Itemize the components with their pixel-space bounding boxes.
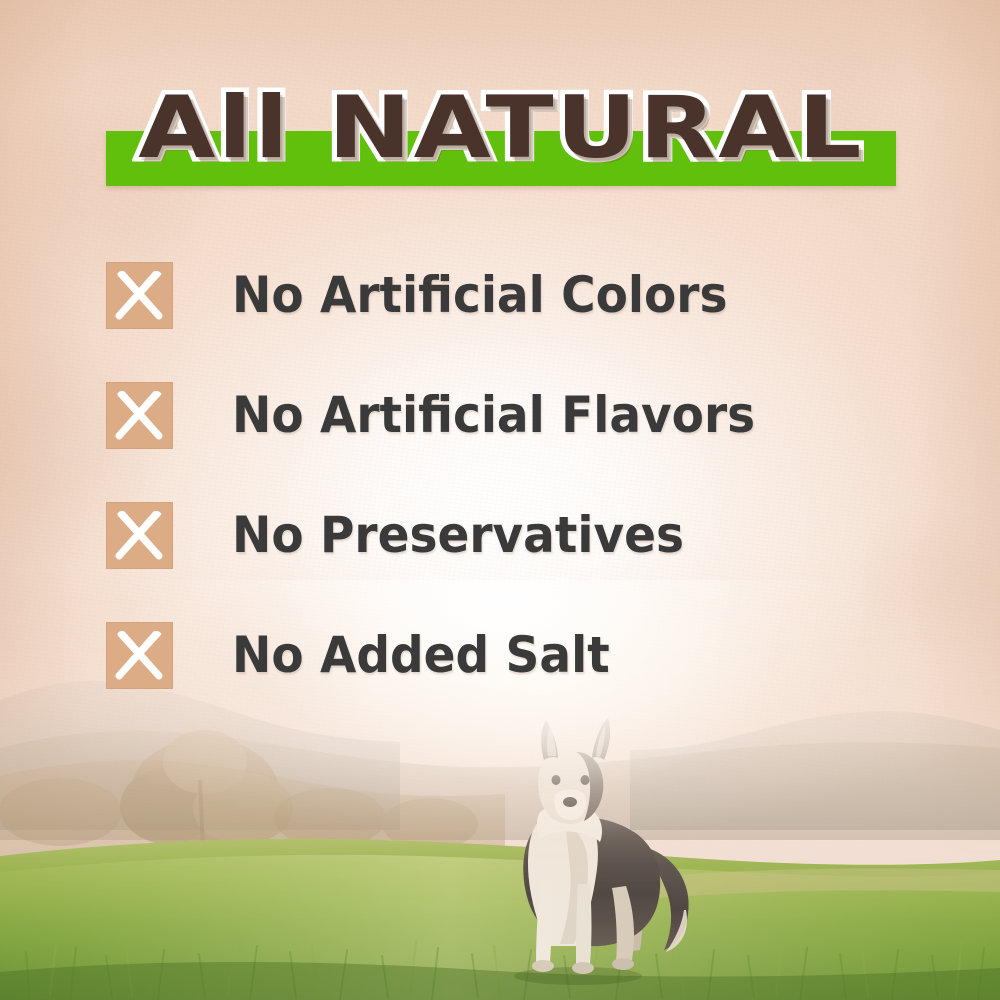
list-item: No Preservatives [106, 492, 946, 578]
list-item-label: No Added Salt [232, 630, 610, 680]
x-mark-icon [106, 502, 173, 569]
poster-canvas: All NATURAL No Artificial Colors No Arti… [0, 0, 1000, 1000]
list-item-label: No Preservatives [232, 510, 684, 560]
list-item: No Artificial Colors [106, 252, 946, 338]
list-item-label: No Artificial Flavors [232, 390, 755, 440]
list-item: No Added Salt [106, 612, 946, 698]
feature-list: No Artificial Colors No Artificial Flavo… [106, 252, 946, 698]
x-mark-icon [106, 382, 173, 449]
list-item: No Artificial Flavors [106, 372, 946, 458]
x-mark-icon [106, 262, 173, 329]
page-title: All NATURAL [43, 74, 959, 182]
list-item-label: No Artificial Colors [232, 270, 727, 320]
x-mark-icon [106, 622, 173, 689]
banner: All NATURAL [106, 74, 896, 194]
